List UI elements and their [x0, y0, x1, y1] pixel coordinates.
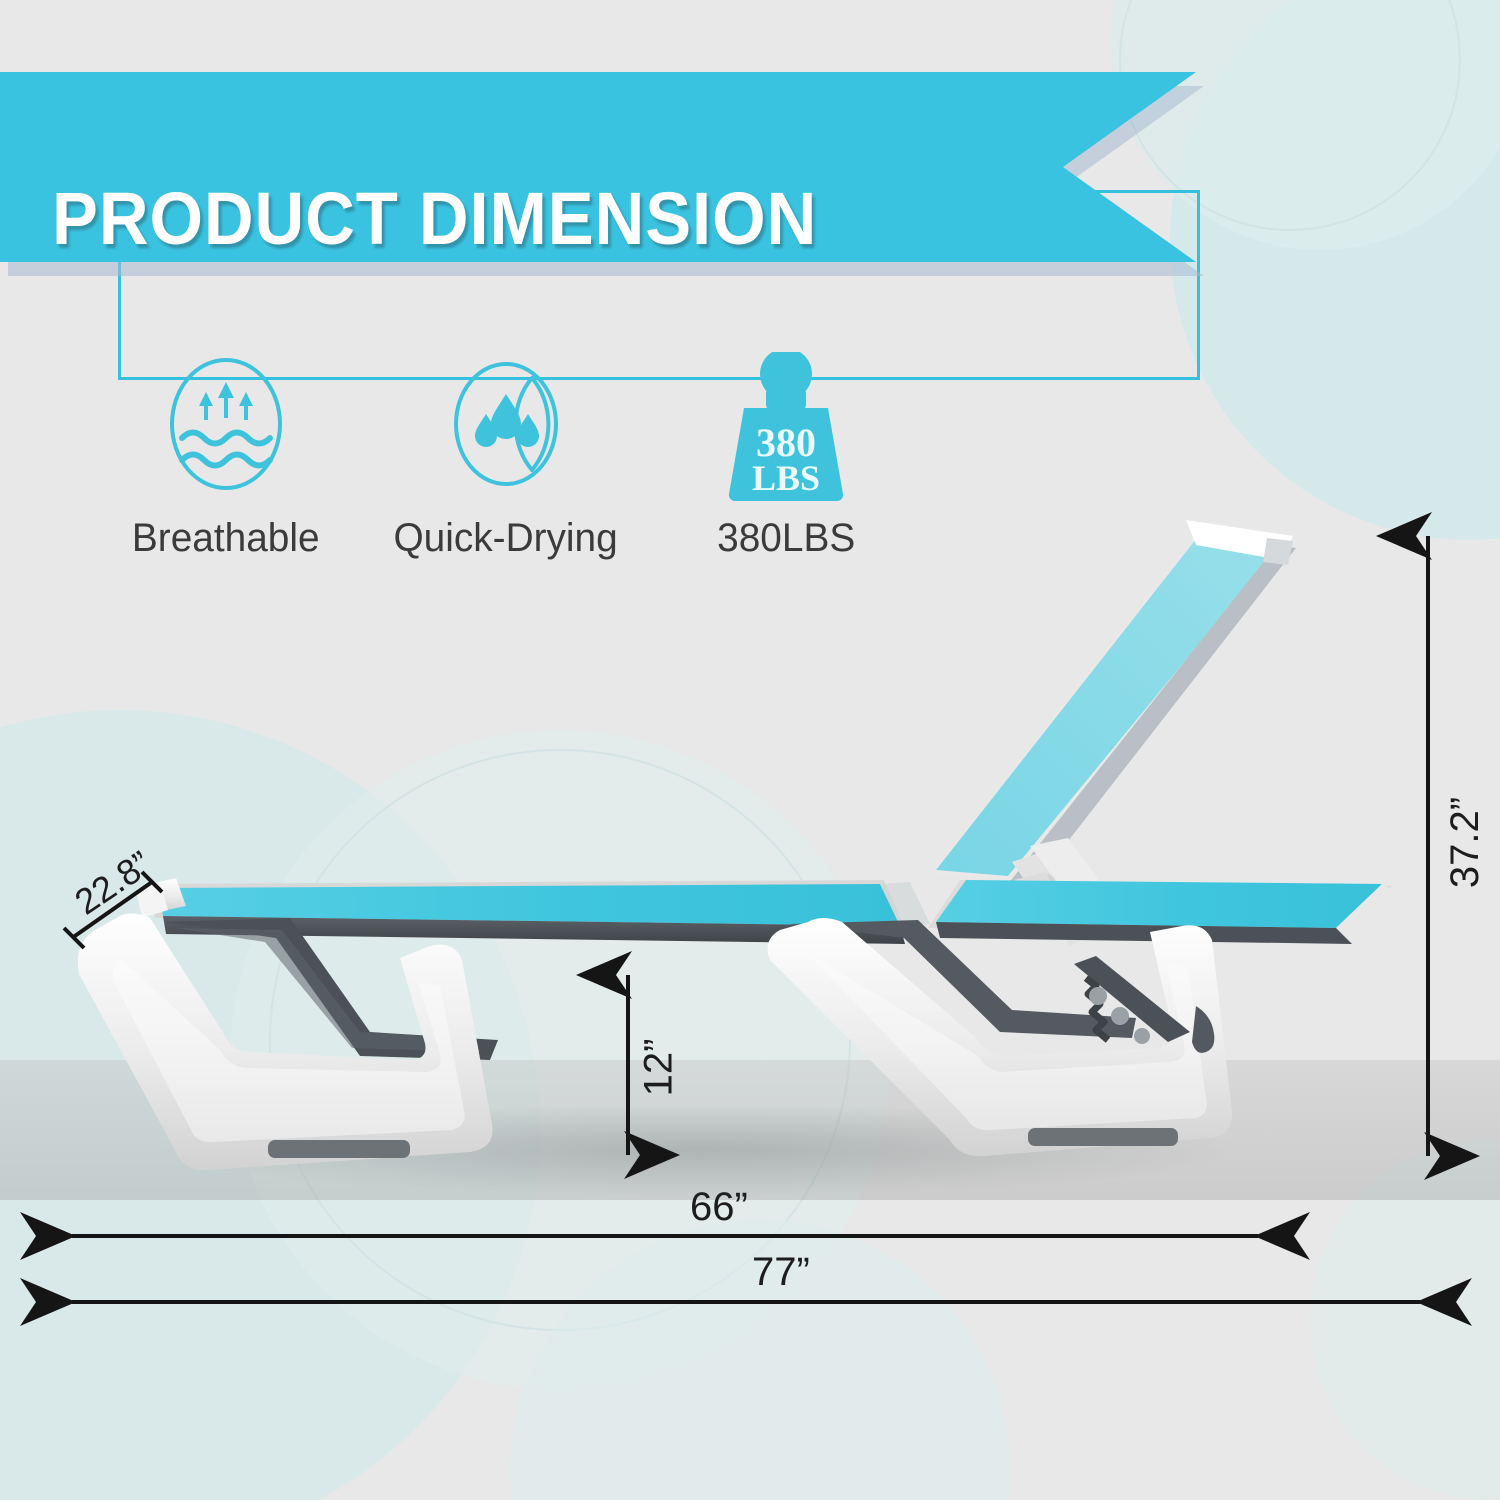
page-title: PRODUCT DIMENSION	[52, 176, 817, 261]
breathable-icon	[156, 352, 296, 502]
infographic-canvas: PRODUCT DIMENSION Breathable	[0, 0, 1500, 1500]
feature-label: Quick-Drying	[394, 516, 618, 561]
front-leg	[78, 913, 498, 1170]
weight-badge-unit: LBS	[752, 458, 820, 498]
feature-quick-drying: Quick-Drying	[366, 352, 646, 561]
feature-breathable: Breathable	[86, 352, 366, 561]
feature-label: 380LBS	[717, 516, 855, 561]
feature-weight-capacity: 380 LBS 380LBS	[646, 352, 926, 561]
weight-capacity-icon: 380 LBS	[711, 352, 861, 502]
chair-seat	[136, 878, 1408, 944]
feature-list: Breathable Quick-Drying	[86, 352, 926, 561]
quick-drying-icon	[436, 352, 576, 502]
chair-backrest	[930, 520, 1296, 890]
feature-label: Breathable	[132, 516, 320, 561]
